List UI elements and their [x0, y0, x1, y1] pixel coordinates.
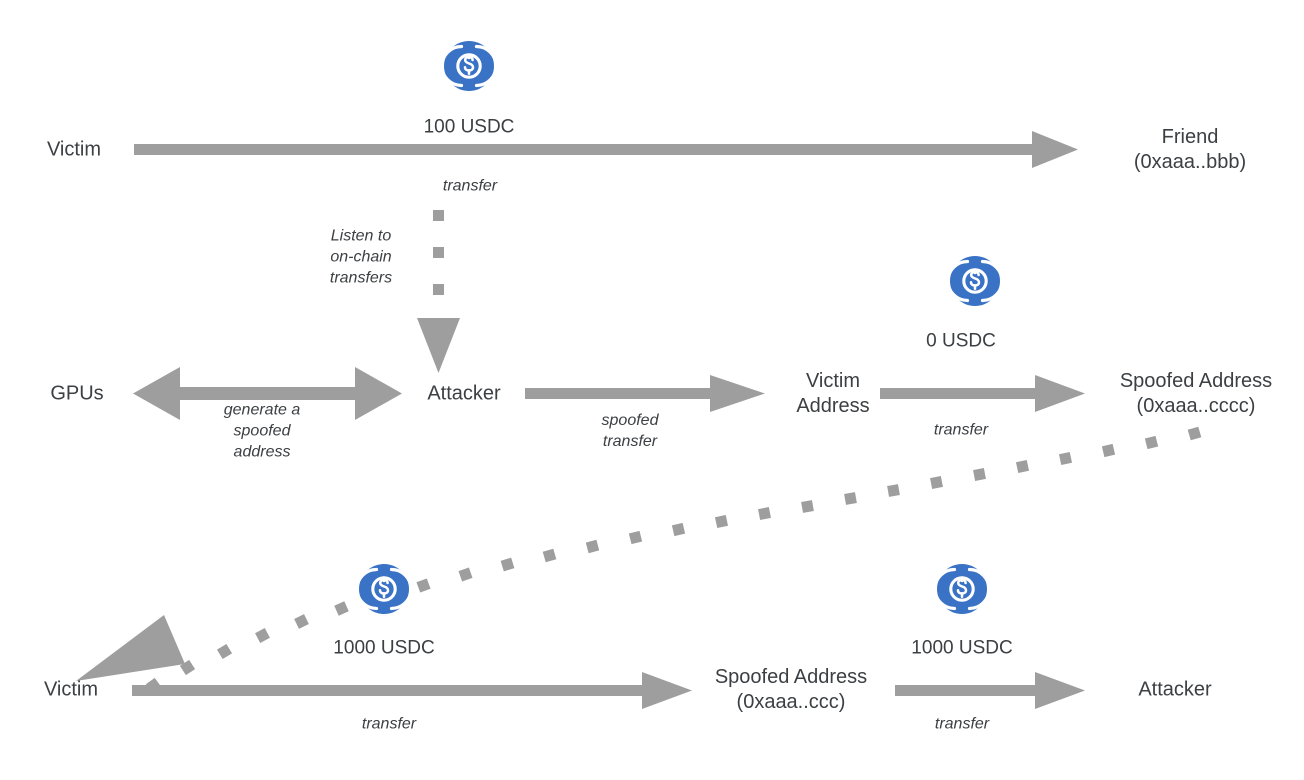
edge-label-spoofed-transfer: spoofed transfer	[602, 410, 659, 452]
usdc-coin-icon-row3-right	[935, 564, 989, 614]
diagram-artwork	[0, 0, 1304, 780]
node-spoofed-address-bottom: Spoofed Address (0xaaa..ccc)	[715, 665, 867, 715]
node-victim-2: Victim	[44, 678, 98, 703]
amount-0-usdc: 0 USDC	[926, 329, 996, 354]
amount-100-usdc: 100 USDC	[424, 115, 515, 140]
node-attacker-bottom: Attacker	[1138, 678, 1211, 703]
arrow-victim-to-spoofed	[132, 672, 692, 709]
usdc-coin-icon-row1	[442, 41, 496, 91]
edge-label-listen-transfers: Listen to on-chain transfers	[330, 226, 392, 289]
node-victim-address: Victim Address	[796, 369, 869, 419]
arrow-attacker-victim-address	[525, 375, 765, 412]
node-victim-1: Victim	[47, 138, 101, 163]
usdc-coin-icon-row3-left	[357, 564, 411, 614]
dotted-curve-spoofed-to-victim	[76, 427, 1201, 693]
node-friend: Friend (0xaaa..bbb)	[1134, 125, 1246, 175]
edge-label-transfer-row3-b: transfer	[935, 714, 989, 735]
edge-label-transfer-row2: transfer	[934, 420, 988, 441]
node-gpus: GPUs	[50, 382, 103, 407]
dotted-arrow-listen-transfers	[417, 210, 460, 373]
amount-1000-usdc-b: 1000 USDC	[911, 636, 1012, 661]
edge-label-generate-spoofed-address: generate a spoofed address	[224, 400, 301, 463]
diagram-canvas: Victim 100 USDC transfer Friend (0xaaa..…	[0, 0, 1304, 780]
node-attacker-mid: Attacker	[427, 382, 500, 407]
arrow-victim-to-friend	[134, 131, 1078, 168]
node-spoofed-address-mid: Spoofed Address (0xaaa..cccc)	[1120, 369, 1272, 419]
arrow-spoofed-to-attacker	[895, 672, 1085, 709]
arrow-victim-address-spoofed	[880, 375, 1085, 412]
usdc-coin-icon-row2	[948, 256, 1002, 306]
edge-label-transfer-row1: transfer	[443, 176, 497, 197]
edge-label-transfer-row3-a: transfer	[362, 714, 416, 735]
amount-1000-usdc-a: 1000 USDC	[333, 636, 434, 661]
